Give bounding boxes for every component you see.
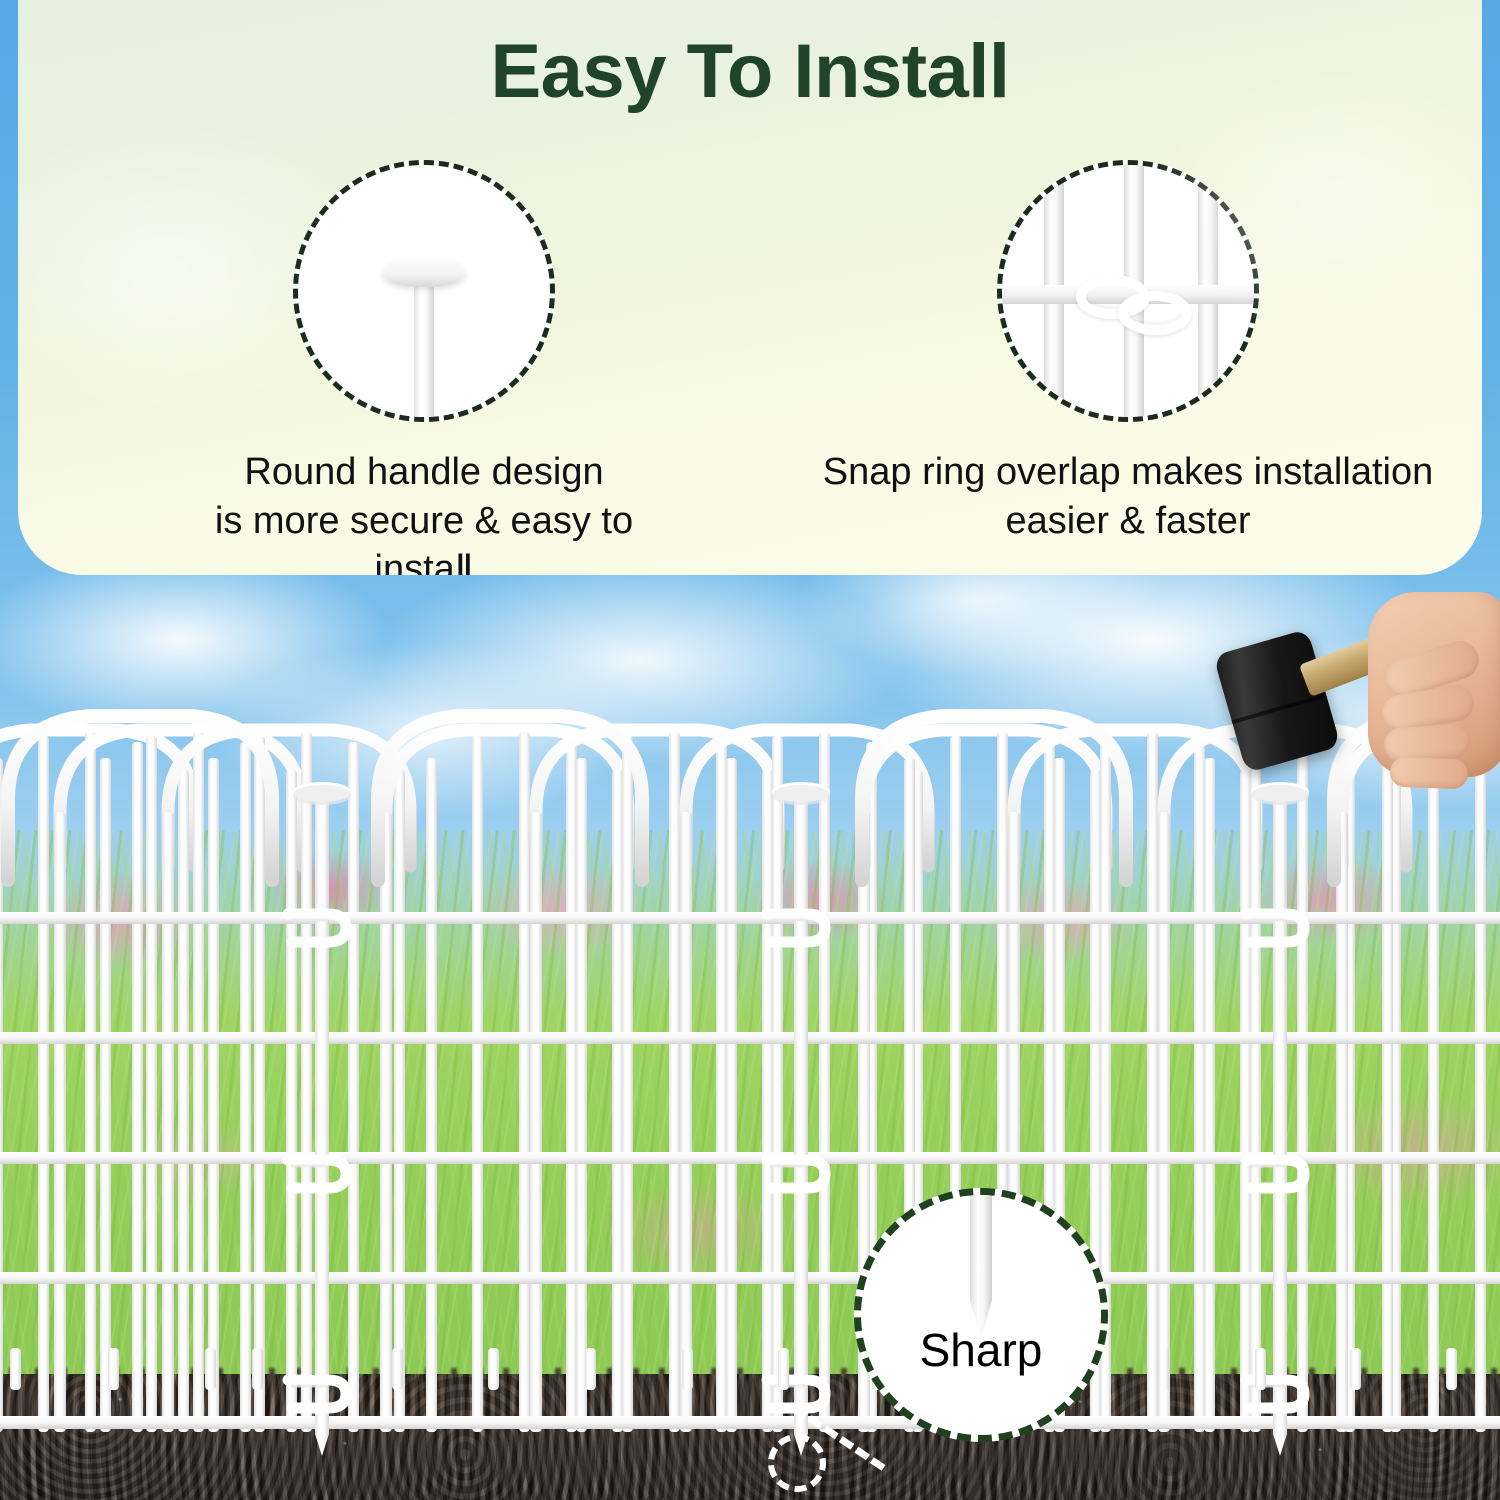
feature-snap-ring: Snap ring overlap makes installation eas… <box>778 160 1478 545</box>
finger-icon <box>1390 757 1469 790</box>
feature-caption-line1: Snap ring overlap makes installation <box>778 448 1478 497</box>
feature-caption-line1: Round handle design <box>194 448 654 497</box>
feature-caption: Snap ring overlap makes installation eas… <box>778 448 1478 545</box>
round-handle-bubble <box>293 160 555 422</box>
feature-card: Easy To Install Round handle design is m… <box>18 0 1482 575</box>
stake-round-head-icon <box>382 257 466 287</box>
stake-shaft-icon <box>414 269 434 422</box>
sharp-tip-target-ring <box>768 1434 826 1492</box>
feature-caption-line2: is more secure & easy to instaⅡ <box>194 497 654 575</box>
ground-stake <box>288 782 351 1456</box>
page-title: Easy To Install <box>18 28 1482 115</box>
sharp-label: Sharp <box>920 1323 1043 1435</box>
feature-caption-line2: easier & faster <box>778 497 1478 546</box>
snap-ring-bubble <box>997 160 1259 422</box>
snap-ring-icon <box>1118 291 1192 335</box>
mesh-vertical-wire-icon <box>1198 160 1218 422</box>
pointed-stake-tip-icon <box>970 1189 992 1339</box>
sharp-callout-bubble: Sharp <box>854 1188 1108 1442</box>
feature-caption: Round handle design is more secure & eas… <box>194 448 654 575</box>
feature-round-handle: Round handle design is more secure & eas… <box>194 160 654 575</box>
fence-panel <box>1334 730 1500 1432</box>
